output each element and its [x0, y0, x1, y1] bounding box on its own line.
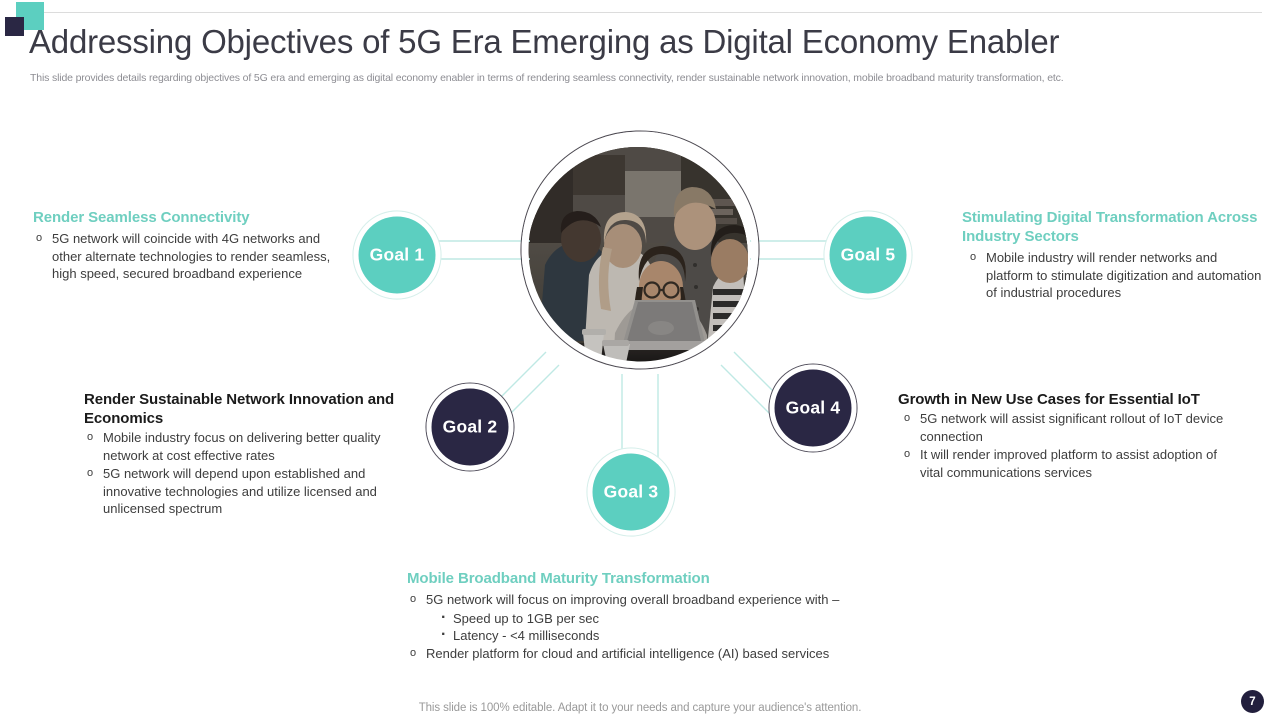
- footer-note: This slide is 100% editable. Adapt it to…: [0, 702, 1280, 714]
- list-item: 5G network will assist significant rollo…: [901, 410, 1238, 445]
- block-bullet-list: 5G network will coincide with 4G network…: [33, 230, 333, 283]
- block-heading: Render Sustainable Network Innovation an…: [84, 390, 404, 428]
- page-subtitle: This slide provides details regarding ob…: [30, 71, 1255, 85]
- list-item: 5G network will coincide with 4G network…: [33, 230, 333, 283]
- center-white-ring: [525, 135, 755, 365]
- block-bullet-list: 5G network will assist significant rollo…: [901, 410, 1238, 481]
- text-block-mobile-broadband-maturity-transformation: Mobile Broadband Maturity Transformation…: [407, 569, 927, 663]
- goals-diagram: Goal 1 Goal 2 Goal 3 Goal 4 Goal 5: [330, 120, 950, 550]
- node-goal-1[interactable]: [353, 211, 441, 299]
- node-goal-3[interactable]: [587, 448, 675, 536]
- list-item-sub: Speed up to 1GB per sec: [407, 610, 927, 628]
- slide-canvas: Addressing Objectives of 5G Era Emerging…: [0, 0, 1280, 720]
- list-item: 5G network will depend upon established …: [84, 465, 404, 518]
- list-item: It will render improved platform to assi…: [901, 446, 1238, 481]
- text-block-growth-in-new-use-cases: Growth in New Use Cases for Essential Io…: [898, 390, 1238, 482]
- text-block-render-sustainable-network-innovation: Render Sustainable Network Innovation an…: [84, 390, 404, 519]
- list-item-sub: Latency - <4 milliseconds: [407, 627, 927, 645]
- block-heading: Stimulating Digital Transformation Acros…: [962, 208, 1262, 246]
- list-item: Mobile industry will render networks and…: [967, 249, 1262, 302]
- decoration-square-navy: [5, 17, 24, 36]
- list-item: 5G network will focus on improving overa…: [407, 591, 927, 609]
- node-goal-2[interactable]: [426, 383, 514, 471]
- text-block-render-seamless-connectivity: Render Seamless Connectivity 5G network …: [33, 208, 333, 284]
- node-goal-4[interactable]: [769, 364, 857, 452]
- block-heading: Render Seamless Connectivity: [33, 208, 333, 227]
- page-number-badge: 7: [1241, 690, 1264, 713]
- list-item: Render platform for cloud and artificial…: [407, 645, 927, 663]
- list-item: Mobile industry focus on delivering bett…: [84, 429, 404, 464]
- block-heading: Growth in New Use Cases for Essential Io…: [898, 390, 1238, 409]
- text-block-stimulating-digital-transformation: Stimulating Digital Transformation Acros…: [962, 208, 1262, 303]
- page-title: Addressing Objectives of 5G Era Emerging…: [29, 21, 1229, 63]
- block-bullet-list: Mobile industry will render networks and…: [967, 249, 1262, 302]
- block-bullet-list: 5G network will focus on improving overa…: [407, 591, 927, 662]
- diagram-svg: [330, 120, 950, 550]
- block-bullet-list: Mobile industry focus on delivering bett…: [84, 429, 404, 518]
- header-divider: [44, 12, 1262, 13]
- node-goal-5[interactable]: [824, 211, 912, 299]
- block-heading: Mobile Broadband Maturity Transformation: [407, 569, 927, 588]
